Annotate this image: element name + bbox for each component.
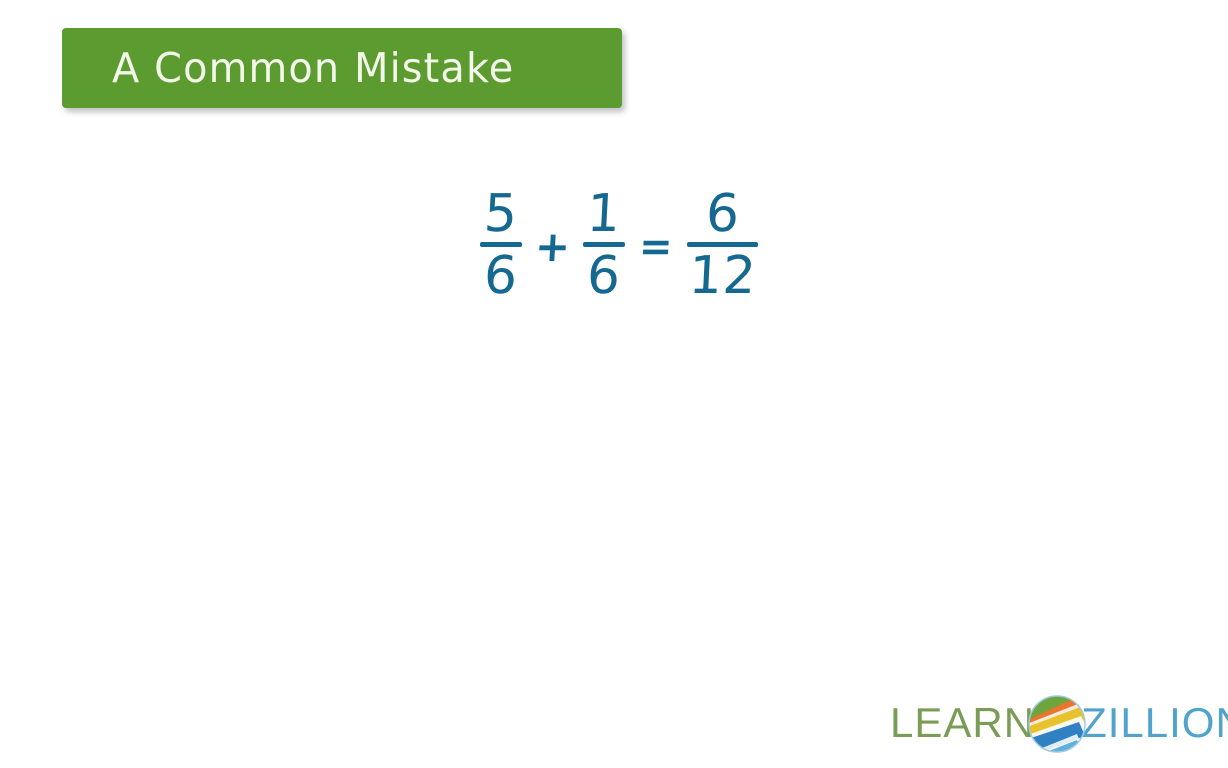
equals-operator: =: [624, 224, 688, 270]
fraction-second-addend: 1 6: [583, 188, 625, 302]
plus-operator: +: [521, 226, 584, 268]
fraction-numerator: 6: [702, 188, 742, 240]
fraction-sum: 6 12: [687, 188, 758, 302]
learnzillion-logo: LEARN: [890, 690, 1228, 756]
fraction-numerator: 5: [481, 188, 521, 240]
title-banner: A Common Mistake: [62, 28, 622, 108]
page-title: A Common Mistake: [112, 48, 514, 89]
globe-icon: [1027, 694, 1087, 754]
logo-word-learn: LEARN: [890, 702, 1035, 744]
fraction-denominator: 12: [685, 250, 759, 302]
fraction-numerator: 1: [584, 188, 624, 240]
fraction-denominator: 6: [584, 250, 624, 302]
fraction-first-addend: 5 6: [480, 188, 522, 302]
slide-canvas: A Common Mistake 5 6 + 1 6 = 6 12 LEARN: [0, 0, 1228, 768]
equation: 5 6 + 1 6 = 6 12: [480, 188, 758, 302]
logo-word-zillion: ZILLION: [1081, 702, 1228, 744]
fraction-denominator: 6: [481, 250, 521, 302]
